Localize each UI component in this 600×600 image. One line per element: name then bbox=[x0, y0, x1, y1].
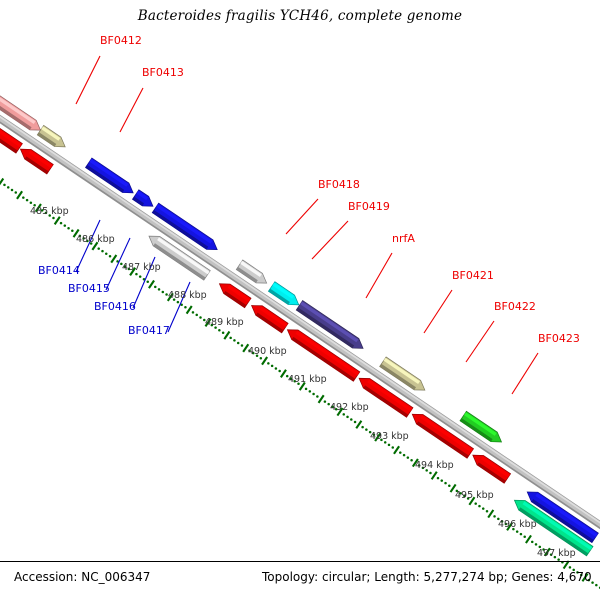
ruler-tick-label: 485 kbp bbox=[30, 206, 69, 217]
ruler-tick-label: 493 kbp bbox=[370, 431, 409, 442]
gene-label-bf0413[interactable]: BF0413 bbox=[142, 66, 184, 79]
gene-label-bf0417[interactable]: BF0417 bbox=[128, 324, 170, 337]
gene-label-bf0415[interactable]: BF0415 bbox=[68, 282, 110, 295]
genome-stats-text: Topology: circular; Length: 5,277,274 bp… bbox=[262, 570, 592, 584]
gene-label-bf0412[interactable]: BF0412 bbox=[100, 34, 142, 47]
gene-label-bf0418[interactable]: BF0418 bbox=[318, 178, 360, 191]
genome-map-canvas: Bacteroides fragilis YCH46, complete gen… bbox=[0, 0, 600, 600]
leader-line bbox=[76, 56, 100, 104]
ruler-tick-label: 487 kbp bbox=[122, 262, 161, 273]
gene-label-bf0421[interactable]: BF0421 bbox=[452, 269, 494, 282]
genome-axis bbox=[0, 64, 600, 580]
gene-label-bf0414[interactable]: BF0414 bbox=[38, 264, 80, 277]
ruler-tick-label: 491 kbp bbox=[288, 374, 327, 385]
ruler-tick-label: 496 kbp bbox=[498, 519, 537, 530]
ruler-tick-label: 492 kbp bbox=[330, 402, 369, 413]
gene-label-bf0416[interactable]: BF0416 bbox=[94, 300, 136, 313]
leader-line bbox=[366, 253, 392, 298]
ruler-tick-label: 494 kbp bbox=[415, 460, 454, 471]
gene-label-bf0422[interactable]: BF0422 bbox=[494, 300, 536, 313]
footer-divider bbox=[0, 561, 600, 562]
leader-line bbox=[286, 199, 318, 234]
ruler-tick-label: 497 kbp bbox=[537, 548, 576, 559]
ruler-tick-label: 488 kbp bbox=[168, 290, 207, 301]
accession-text: Accession: NC_006347 bbox=[14, 570, 150, 584]
ruler-tick-label: 490 kbp bbox=[248, 346, 287, 357]
ruler-tick-label: 486 kbp bbox=[76, 234, 115, 245]
gene-label-bf0419[interactable]: BF0419 bbox=[348, 200, 390, 213]
leader-line bbox=[424, 290, 452, 333]
ruler-tick-label: 495 kbp bbox=[455, 490, 494, 501]
gene-label-bf0423[interactable]: BF0423 bbox=[538, 332, 580, 345]
leader-line bbox=[466, 321, 494, 362]
ruler-tick-label: 489 kbp bbox=[205, 317, 244, 328]
leader-line bbox=[512, 353, 538, 394]
leader-line bbox=[312, 221, 348, 259]
gene-label-nrfa[interactable]: nrfA bbox=[392, 232, 415, 245]
leader-line bbox=[120, 88, 143, 132]
